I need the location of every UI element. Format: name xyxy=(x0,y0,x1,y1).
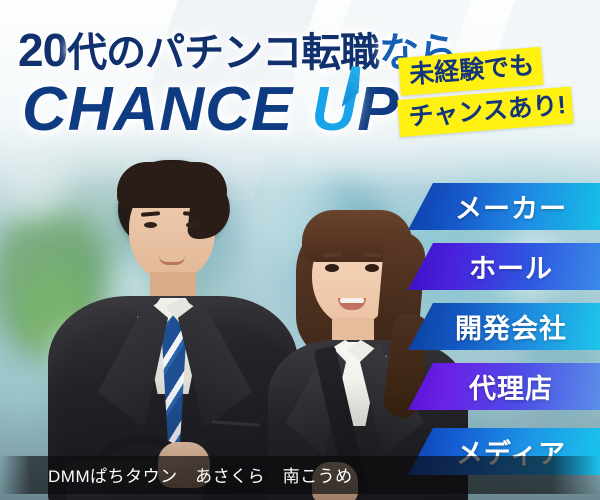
woman-eye xyxy=(325,264,339,272)
category-button-agency[interactable]: 代理店 xyxy=(408,363,600,410)
headline-number: 20 xyxy=(18,24,67,76)
logo-letter-u: U xyxy=(311,74,357,145)
credit-text: DMMぱちタウン あさくら 南こうめ xyxy=(48,462,353,487)
photo-man-in-suit xyxy=(40,160,300,500)
experience-badge: 未経験でも チャンスあり! xyxy=(398,43,600,137)
category-button-development-company[interactable]: 開発会社 xyxy=(408,303,600,350)
man-eye xyxy=(186,222,199,228)
headline-part-one: 代のパチンコ転職 xyxy=(67,31,379,75)
woman-teeth xyxy=(340,298,364,303)
logo-letter-p: P xyxy=(357,75,399,144)
advertisement-banner[interactable]: 20代のパチンコ転職なら CHANCE UP 未経験でも チャンスあり! メーカ… xyxy=(0,0,600,500)
category-button-maker[interactable]: メーカー xyxy=(408,183,600,230)
logo-chance-text: CHANCE xyxy=(22,75,311,144)
category-button-hall[interactable]: ホール xyxy=(408,243,600,290)
category-label: 開発会社 xyxy=(441,307,567,346)
headline: 20代のパチンコ転職なら xyxy=(18,20,457,78)
woman-eye xyxy=(365,264,379,272)
category-label: 代理店 xyxy=(455,367,553,406)
category-label: ホール xyxy=(455,247,553,286)
chance-up-logo: CHANCE UP xyxy=(22,74,400,145)
man-eye xyxy=(144,222,157,228)
credit-bar: DMMぱちタウン あさくら 南こうめ xyxy=(0,456,600,494)
category-label: メーカー xyxy=(441,187,567,226)
